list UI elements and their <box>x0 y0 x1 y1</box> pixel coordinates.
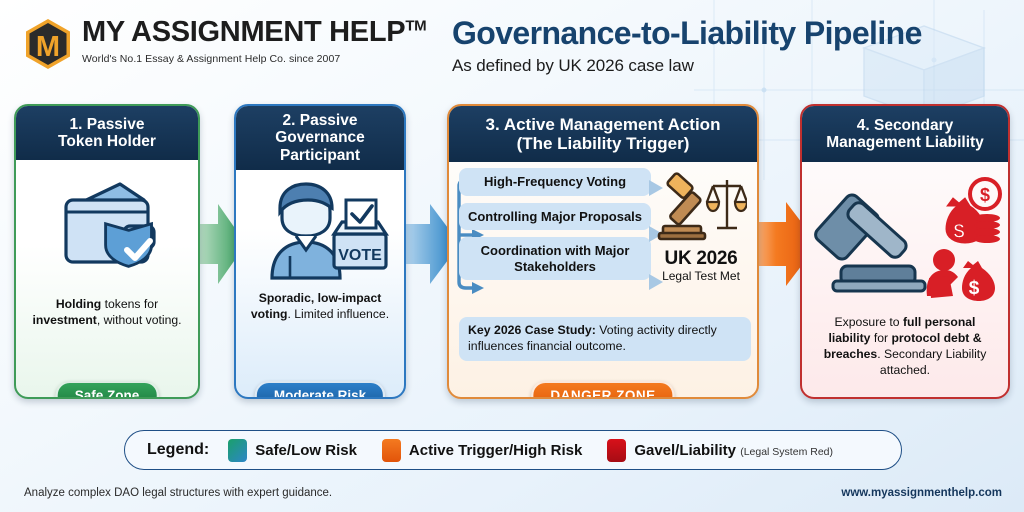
card-2-description: Sporadic, low-impact voting. Limited inf… <box>236 290 404 322</box>
brand-logo-block: M MY ASSIGNMENT HELPTM World's No.1 Essa… <box>24 16 426 70</box>
brand-name: MY ASSIGNMENT HELPTM <box>82 18 426 47</box>
trigger-item-1[interactable]: High-Frequency Voting <box>459 168 651 196</box>
voter-ballot-icon: VOTE <box>250 178 390 282</box>
card-3-title: 3. Active Management Action(The Liabilit… <box>449 106 757 162</box>
trigger-item-2[interactable]: Controlling Major Proposals <box>459 203 651 231</box>
trigger-item-3[interactable]: Coordination with Major Stakeholders <box>459 237 651 280</box>
trademark-symbol: TM <box>405 17 426 34</box>
svg-text:$: $ <box>953 221 964 243</box>
legend-item-gavel: Gavel/Liability (Legal System Red) <box>607 439 833 462</box>
legend-swatch-gavel <box>607 439 626 462</box>
ballot-label: VOTE <box>338 247 382 264</box>
card-1-badge: Safe Zone <box>56 381 159 399</box>
case-study-box: Key 2026 Case Study: Voting activity dir… <box>459 317 751 361</box>
legend-item-active: Active Trigger/High Risk <box>382 439 582 462</box>
svg-text:$: $ <box>980 185 990 205</box>
legend-label-safe: Safe/Low Risk <box>255 442 357 459</box>
card-2-title: 2. PassiveGovernanceParticipant <box>236 106 404 170</box>
page-title: Governance-to-Liability Pipeline <box>452 16 922 51</box>
legend-item-safe: Safe/Low Risk <box>228 439 357 462</box>
logo-letter: M <box>36 31 60 63</box>
legend-swatch-active <box>382 439 401 462</box>
legend-title: Legend: <box>147 441 209 459</box>
stage-card-4[interactable]: 4. SecondaryManagement Liability $ $ <box>800 104 1010 399</box>
svg-text:$: $ <box>969 278 980 299</box>
brand-tagline: World's No.1 Essay & Assignment Help Co.… <box>82 53 426 65</box>
wallet-shield-icon <box>44 174 170 278</box>
card-4-description: Exposure to full personal liability for … <box>802 314 1008 378</box>
footer-website[interactable]: www.myassignmenthelp.com <box>841 487 1002 499</box>
hexagon-logo-icon: M <box>24 18 72 70</box>
gavel-scales-icon <box>655 172 747 242</box>
header: M MY ASSIGNMENT HELPTM World's No.1 Essa… <box>0 0 1024 96</box>
stage-card-3[interactable]: 3. Active Management Action(The Liabilit… <box>447 104 759 399</box>
card-1-description: Holding tokens for investment, without v… <box>16 296 198 328</box>
uk-verdict-block: UK 2026 Legal Test Met <box>651 172 751 283</box>
case-study-label: Key 2026 Case Study: <box>468 323 596 337</box>
stage-card-2[interactable]: 2. PassiveGovernanceParticipant VOTE Spo… <box>234 104 406 399</box>
legend-label-gavel: Gavel/Liability (Legal System Red) <box>634 442 833 459</box>
card-3-badge: DANGER ZONE <box>531 381 674 399</box>
footer-tagline: Analyze complex DAO legal structures wit… <box>24 487 332 499</box>
title-block: Governance-to-Liability Pipeline As defi… <box>452 16 922 76</box>
page-subtitle: As defined by UK 2026 case law <box>452 56 922 76</box>
trigger-list: High-Frequency Voting Controlling Major … <box>459 168 651 287</box>
stage-card-1[interactable]: 1. PassiveToken Holder Holding tokens fo… <box>14 104 200 399</box>
card-1-title: 1. PassiveToken Holder <box>16 106 198 160</box>
gavel-moneybag-icon: $ $ $ <box>807 168 1003 308</box>
legend-note-gavel: (Legal System Red) <box>740 446 833 458</box>
legend-bar: Legend: Safe/Low Risk Active Trigger/Hig… <box>124 430 902 470</box>
uk-verdict-subtitle: Legal Test Met <box>651 269 751 283</box>
card-4-title: 4. SecondaryManagement Liability <box>802 106 1008 162</box>
uk-verdict-title: UK 2026 <box>651 248 751 270</box>
legend-label-active: Active Trigger/High Risk <box>409 442 582 459</box>
card-2-badge: Moderate Risk <box>255 381 385 399</box>
legend-swatch-safe <box>228 439 247 462</box>
